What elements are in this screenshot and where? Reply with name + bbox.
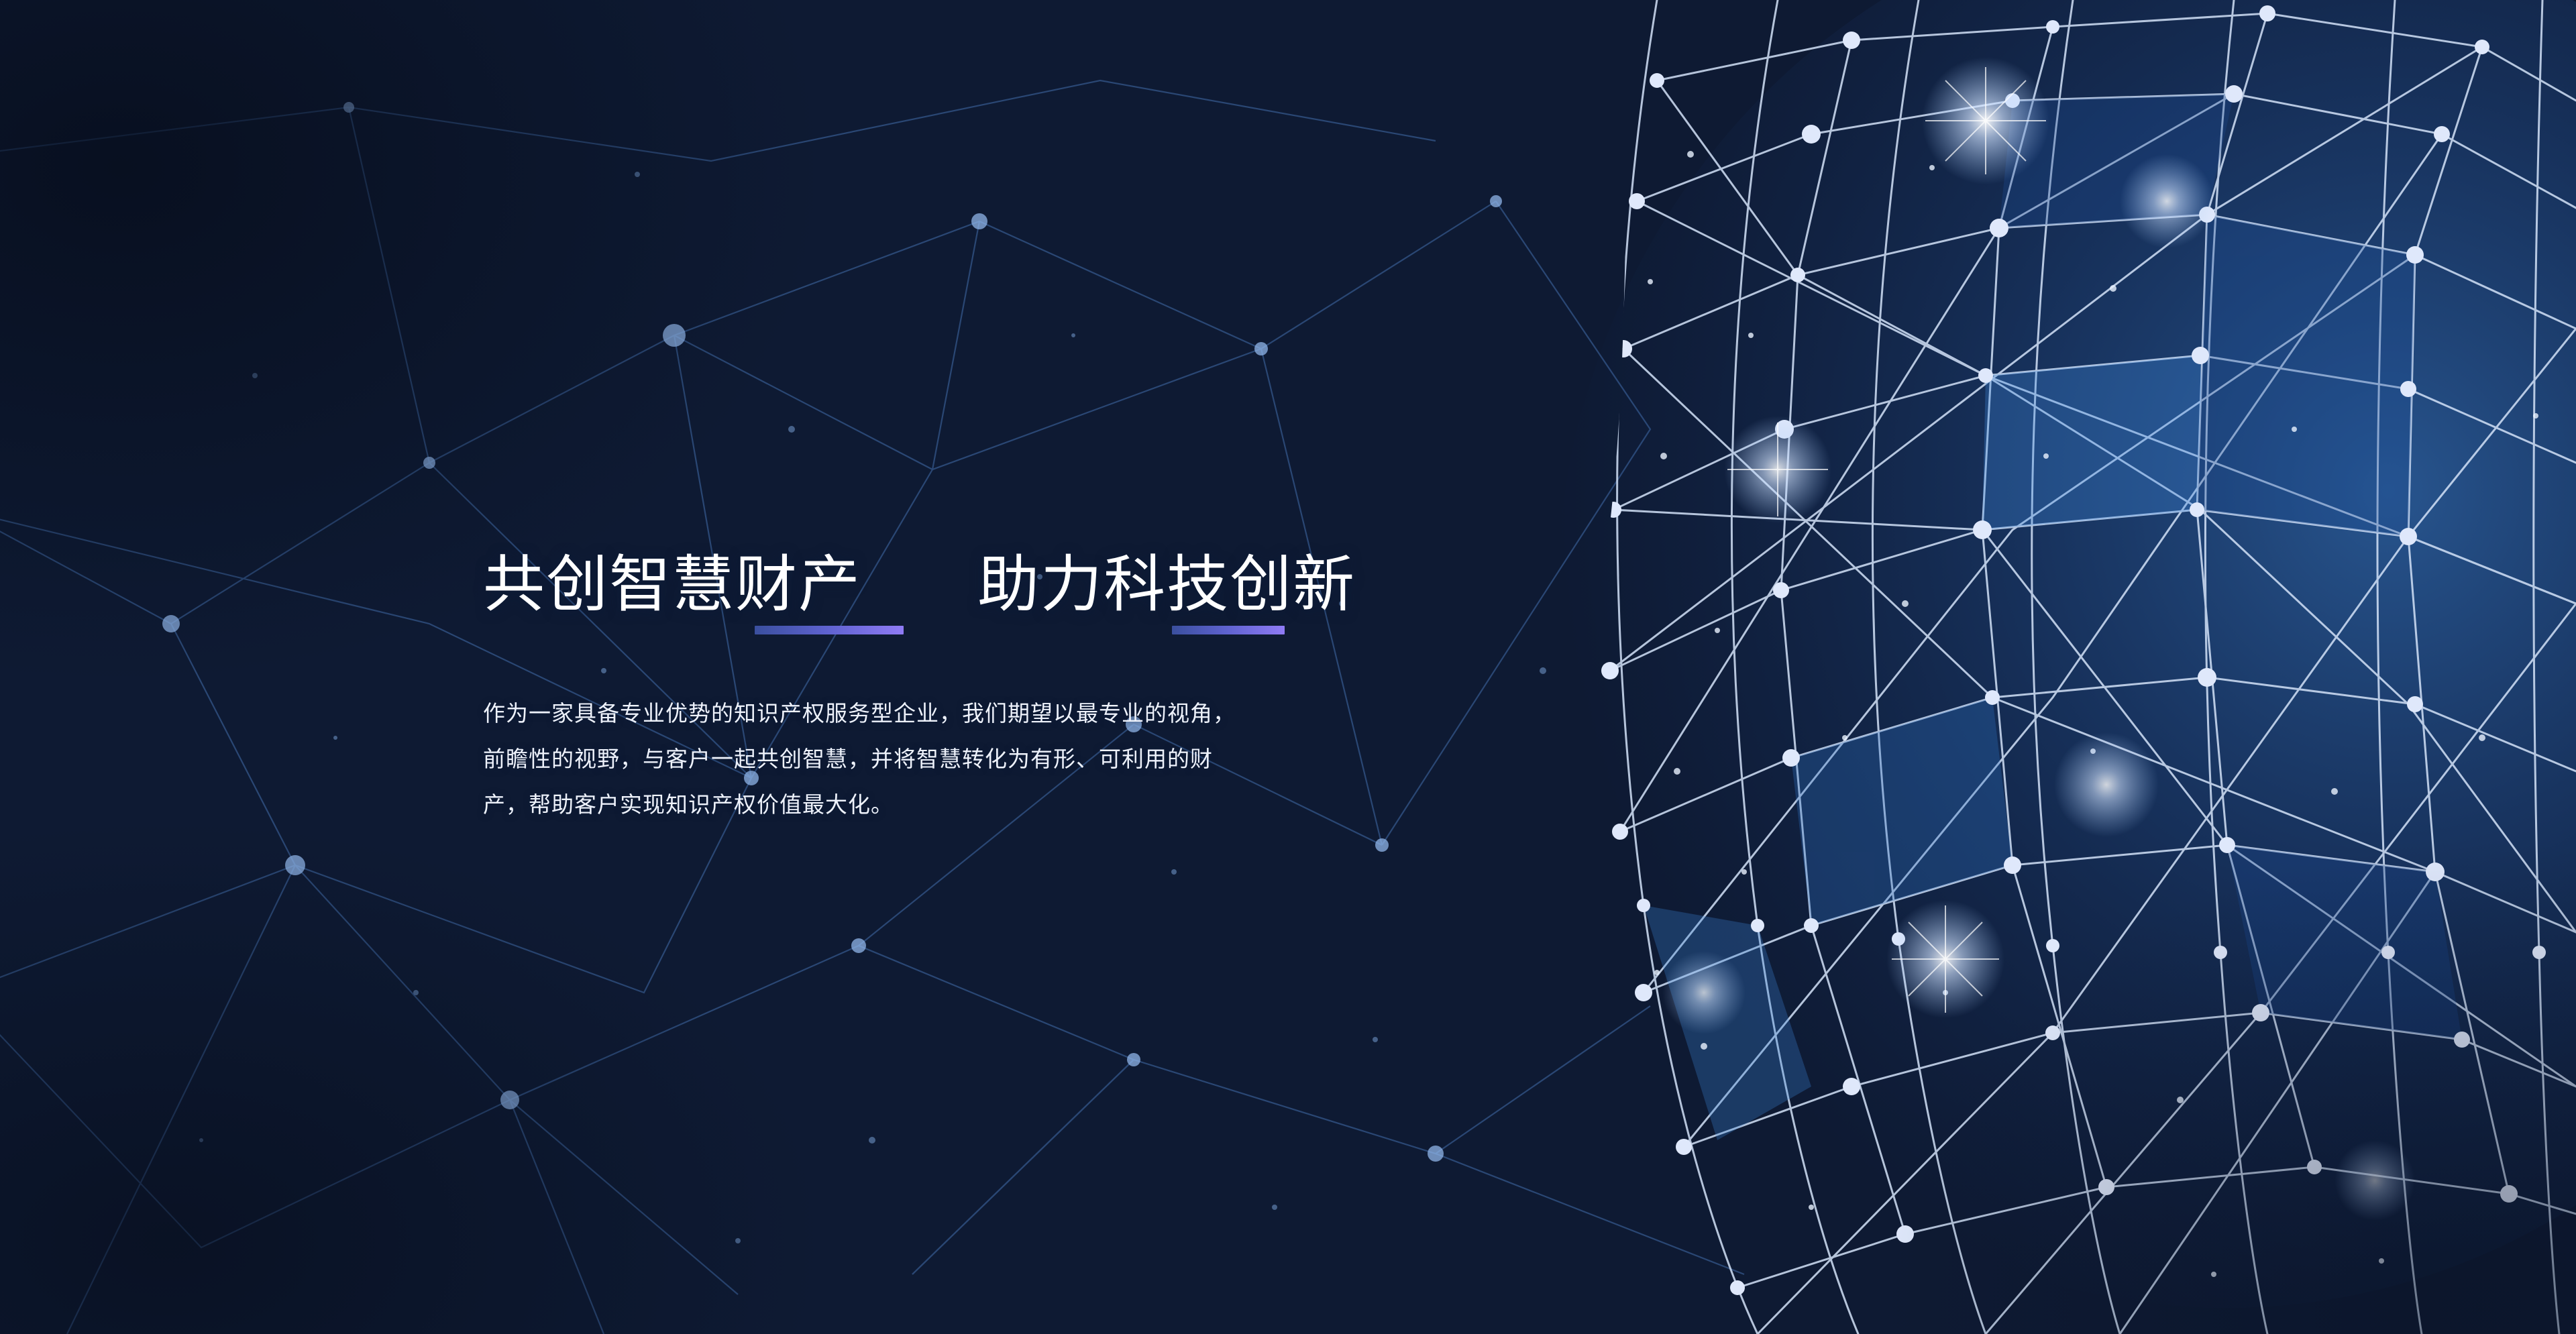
headline-phrase-1: 共创智慧财产 (483, 550, 861, 620)
headline-phrase-2: 助力科技创新 (977, 550, 1356, 620)
hero-banner: 共创智慧财产 助力科技创新 作为一家具备专业优势的知识产权服务型企业，我们期望以… (0, 0, 2576, 1334)
headline-phrase-2-text: 助力科技创新 (977, 551, 1356, 619)
headline-accent-bar-2 (1172, 626, 1285, 634)
banner-content: 共创智慧财产 助力科技创新 作为一家具备专业优势的知识产权服务型企业，我们期望以… (483, 550, 1422, 828)
headline-phrase-1-text: 共创智慧财产 (483, 551, 861, 619)
banner-description: 作为一家具备专业优势的知识产权服务型企业，我们期望以最专业的视角，前瞻性的视野，… (483, 691, 1254, 828)
banner-description-text: 作为一家具备专业优势的知识产权服务型企业，我们期望以最专业的视角，前瞻性的视野，… (483, 691, 1254, 828)
headline-accent-bar-1 (755, 626, 904, 634)
page-title: 共创智慧财产 助力科技创新 (483, 550, 1422, 620)
